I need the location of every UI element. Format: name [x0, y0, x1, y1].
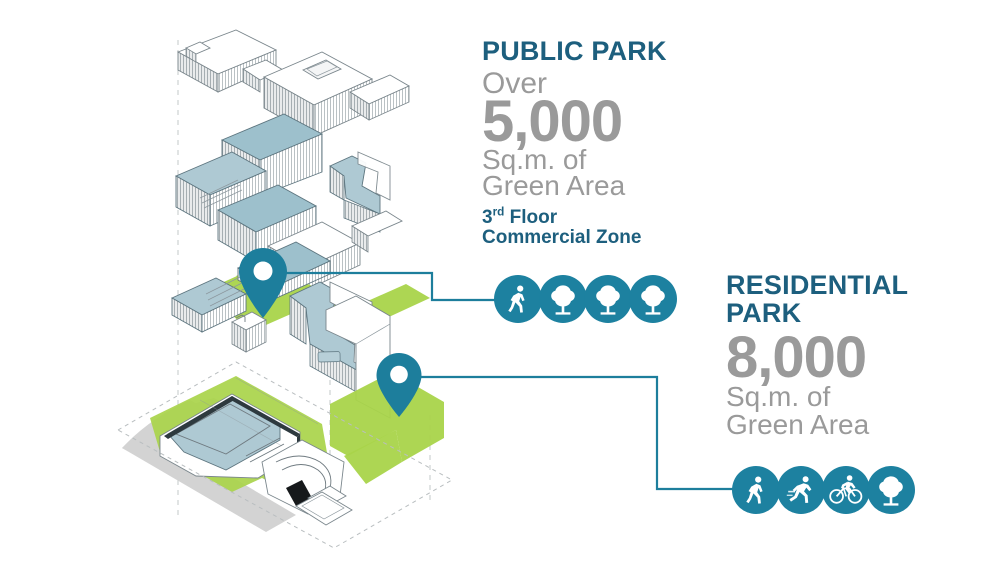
running-icon[interactable]: [777, 466, 825, 514]
tree-icon[interactable]: [629, 275, 677, 323]
cycling-icon[interactable]: [822, 466, 870, 514]
tree-icon[interactable]: [539, 275, 587, 323]
residential-park-area-value: 8,000: [726, 331, 956, 384]
commercial-zone-note: Commercial Zone: [482, 227, 641, 248]
infographic-canvas: .bl { fill:none; stroke:#6f7a80; stroke-…: [0, 0, 1003, 564]
residential-park-amenity-icons: [732, 466, 915, 514]
tree-icon[interactable]: [584, 275, 632, 323]
floor-ordinal-number: 3: [482, 207, 493, 228]
floor-note-rest: Floor: [504, 207, 557, 228]
residential-park-title: RESIDENTIAL PARK: [726, 272, 956, 327]
residential-park-title-line-1: RESIDENTIAL: [726, 270, 908, 300]
walking-icon[interactable]: [494, 275, 542, 323]
floor-ordinal-suffix: rd: [493, 206, 505, 219]
public-park-amenity-icons: [494, 275, 677, 323]
public-park-marker[interactable]: [234, 244, 292, 327]
residential-park-title-line-2: PARK: [726, 298, 801, 328]
tree-icon[interactable]: [867, 466, 915, 514]
public-park-floor-note: 3rd Floor Commercial Zone: [482, 208, 702, 248]
residential-park-unit-line-2: Green Area: [726, 411, 956, 440]
residential-park-info-block: RESIDENTIAL PARK 8,000 Sq.m. of Green Ar…: [726, 272, 956, 440]
public-park-area-value: 5,000: [482, 95, 702, 148]
public-park-title: PUBLIC PARK: [482, 38, 702, 66]
public-park-unit-line-2: Green Area: [482, 172, 702, 201]
residential-park-marker[interactable]: [372, 349, 426, 426]
public-park-info-block: PUBLIC PARK Over 5,000 Sq.m. of Green Ar…: [482, 38, 702, 247]
walking-icon[interactable]: [732, 466, 780, 514]
